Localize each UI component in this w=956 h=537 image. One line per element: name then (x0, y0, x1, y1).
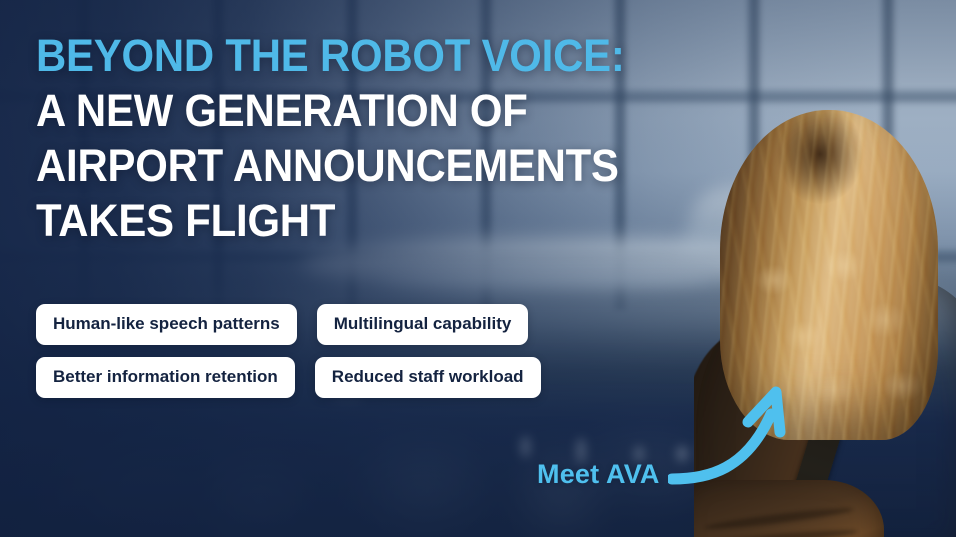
feature-pill-row-2: Better information retention Reduced sta… (36, 357, 541, 398)
headline-line-1: BEYOND THE ROBOT VOICE: (36, 28, 706, 83)
feature-pill-human-like-speech-patterns[interactable]: Human-like speech patterns (36, 304, 297, 345)
hair-wave-highlights (734, 240, 939, 450)
headline-line-3: AIRPORT ANNOUNCEMENTS (36, 138, 706, 193)
feature-pill-row-1: Human-like speech patterns Multilingual … (36, 304, 541, 345)
hero-banner: BEYOND THE ROBOT VOICE: A NEW GENERATION… (0, 0, 956, 537)
headline-line-4: TAKES FLIGHT (36, 193, 706, 248)
page-title: BEYOND THE ROBOT VOICE: A NEW GENERATION… (36, 28, 756, 248)
meet-ava-label: Meet AVA (537, 458, 660, 490)
feature-pill-reduced-staff-workload[interactable]: Reduced staff workload (315, 357, 541, 398)
headline-line-2: A NEW GENERATION OF (36, 83, 706, 138)
feature-pill-multilingual-capability[interactable]: Multilingual capability (317, 304, 529, 345)
feature-pill-better-information-retention[interactable]: Better information retention (36, 357, 295, 398)
feature-pill-group: Human-like speech patterns Multilingual … (36, 304, 541, 398)
